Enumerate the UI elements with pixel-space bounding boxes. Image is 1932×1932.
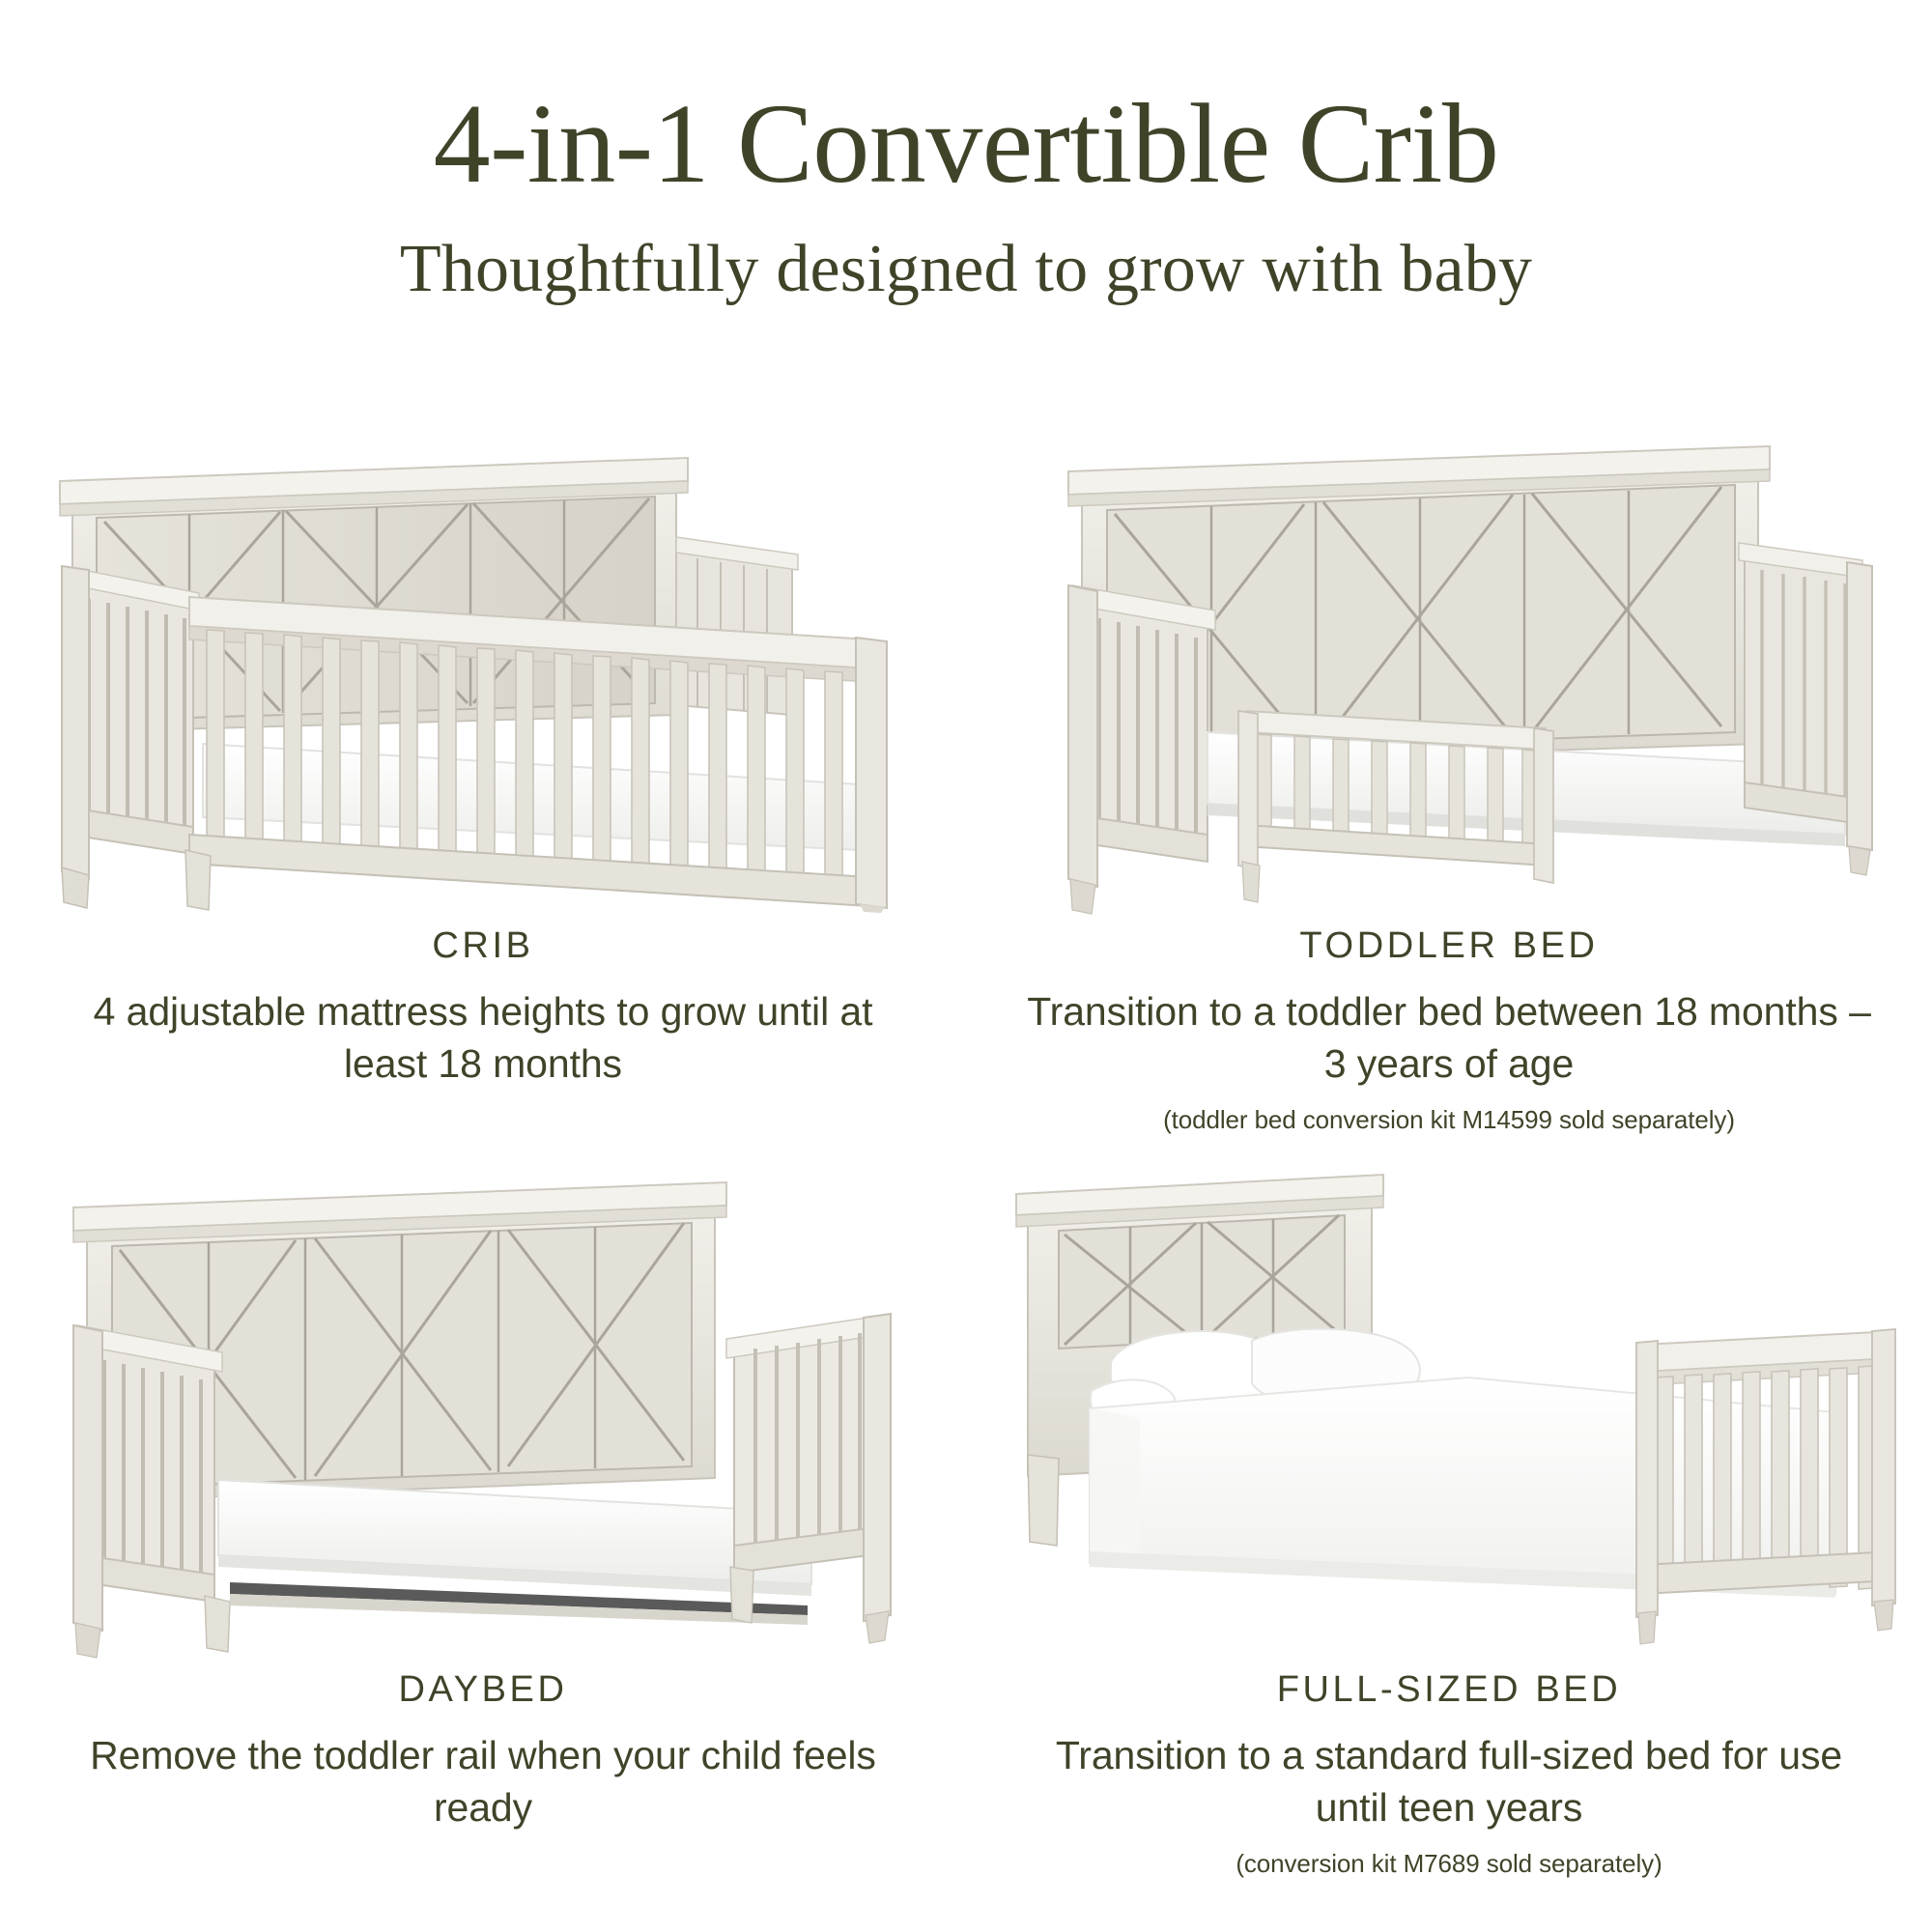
crib-caption: CRIB 4 adjustable mattress heights to gr… (58, 925, 908, 1091)
full-sized-bed-caption-fine-print: (conversion kit M7689 sold separately) (1024, 1848, 1874, 1881)
infographic-page: 4-in-1 Convertible Crib Thoughtfully des… (0, 0, 1932, 1932)
toddler-bed-caption: TODDLER BED Transition to a toddler bed … (1024, 925, 1874, 1137)
page-subtitle: Thoughtfully designed to grow with baby (0, 229, 1932, 310)
panel-daybed: DAYBED Remove the toddler rail when your… (0, 1169, 966, 1913)
crib-caption-heading: CRIB (58, 925, 908, 968)
crib-illustration (0, 425, 966, 918)
full-sized-bed-caption-heading: FULL-SIZED BED (1024, 1669, 1874, 1712)
toddler-bed-caption-heading: TODDLER BED (1024, 925, 1874, 968)
panel-full-sized-bed: FULL-SIZED BED Transition to a standard … (966, 1169, 1932, 1913)
toddler-bed-caption-fine-print: (toddler bed conversion kit M14599 sold … (1024, 1104, 1874, 1137)
page-title: 4-in-1 Convertible Crib (0, 83, 1932, 204)
crib-caption-body: 4 adjustable mattress heights to grow un… (58, 985, 908, 1091)
full-sized-bed-illustration (966, 1169, 1932, 1662)
daybed-caption-heading: DAYBED (58, 1669, 908, 1712)
full-sized-bed-caption: FULL-SIZED BED Transition to a standard … (1024, 1669, 1874, 1881)
full-sized-bed-caption-body: Transition to a standard full-sized bed … (1024, 1729, 1874, 1834)
toddler-bed-caption-body: Transition to a toddler bed between 18 m… (1024, 985, 1874, 1091)
daybed-caption: DAYBED Remove the toddler rail when your… (58, 1669, 908, 1834)
daybed-caption-body: Remove the toddler rail when your child … (58, 1729, 908, 1834)
daybed-illustration (0, 1169, 966, 1662)
conversion-grid: CRIB 4 adjustable mattress heights to gr… (0, 425, 1932, 1913)
toddler-bed-illustration (966, 425, 1932, 918)
panel-toddler-bed: TODDLER BED Transition to a toddler bed … (966, 425, 1932, 1169)
panel-crib: CRIB 4 adjustable mattress heights to gr… (0, 425, 966, 1169)
header: 4-in-1 Convertible Crib Thoughtfully des… (0, 83, 1932, 310)
